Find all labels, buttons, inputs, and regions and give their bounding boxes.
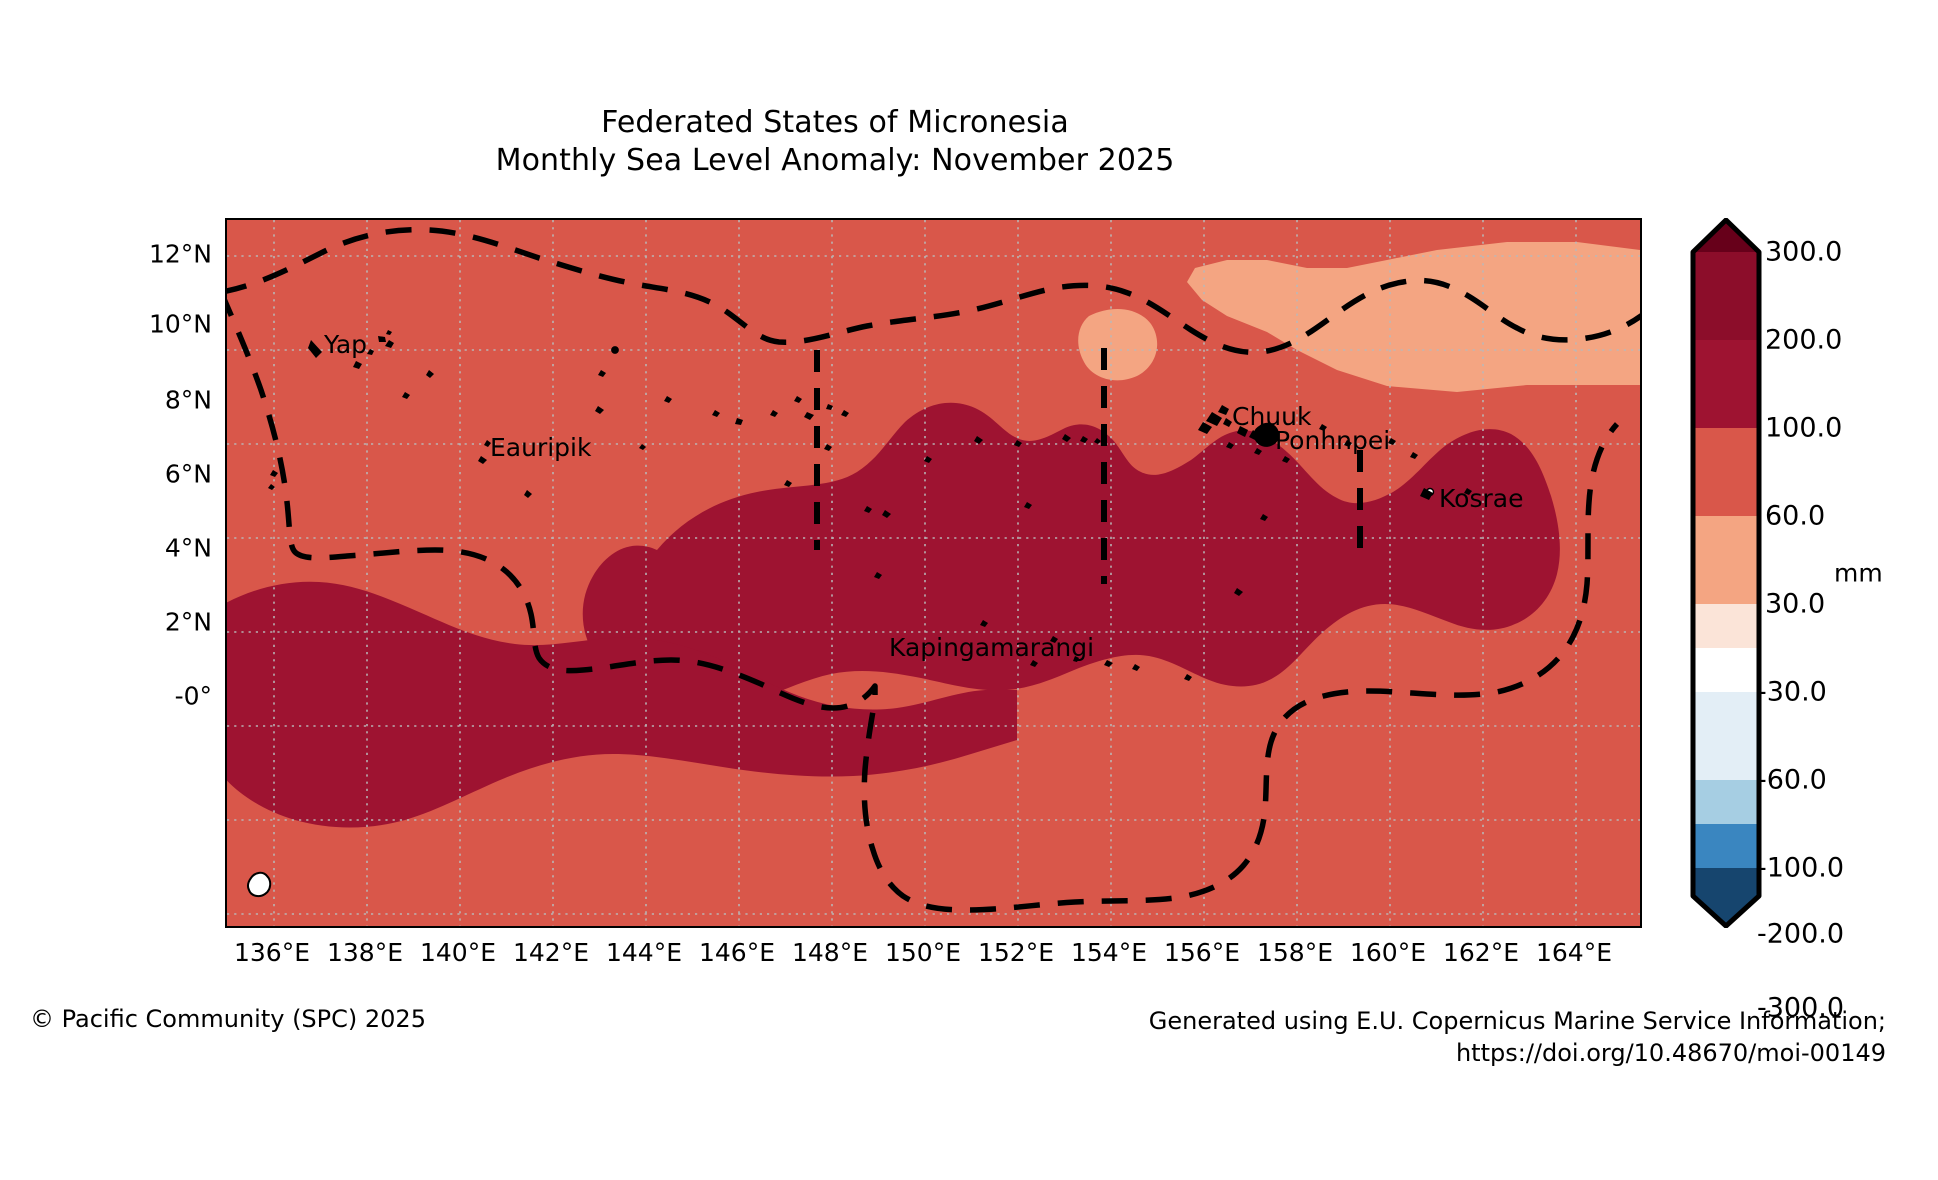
xtick-12: 160°E bbox=[1350, 938, 1426, 967]
xtick-14: 164°E bbox=[1536, 938, 1612, 967]
xtick-11: 158°E bbox=[1257, 938, 1333, 967]
xtick-10: 156°E bbox=[1164, 938, 1240, 967]
cb-band-above-300 bbox=[1693, 220, 1759, 252]
cb-band-m30-0 bbox=[1693, 648, 1759, 692]
xtick-0: 136°E bbox=[234, 938, 310, 967]
cb-band-m200-m100 bbox=[1693, 824, 1759, 868]
xtick-6: 148°E bbox=[792, 938, 868, 967]
cb-label-100: 100.0 bbox=[1765, 413, 1842, 444]
colorbar[interactable]: 300.0 200.0 100.0 60.0 30.0 -30.0 -60.0 … bbox=[1683, 218, 1933, 928]
xtick-1: 138°E bbox=[327, 938, 403, 967]
cb-band-30-60 bbox=[1693, 516, 1759, 604]
footer-attribution-line-1: Generated using E.U. Copernicus Marine S… bbox=[1149, 1005, 1886, 1037]
xtick-5: 146°E bbox=[699, 938, 775, 967]
longitude-axis: 136°E 138°E 140°E 142°E 144°E 146°E 148°… bbox=[0, 0, 1938, 1180]
cb-band-m300-m200 bbox=[1693, 868, 1759, 896]
cb-label-60: 60.0 bbox=[1765, 501, 1825, 532]
footer-attribution: Generated using E.U. Copernicus Marine S… bbox=[1149, 1005, 1886, 1069]
cb-label-200: 200.0 bbox=[1765, 325, 1842, 356]
xtick-2: 140°E bbox=[420, 938, 496, 967]
xtick-3: 142°E bbox=[513, 938, 589, 967]
cb-label-m200: -200.0 bbox=[1757, 919, 1844, 950]
footer-copyright: © Pacific Community (SPC) 2025 bbox=[30, 1005, 426, 1033]
cb-band-0-30 bbox=[1693, 604, 1759, 648]
xtick-8: 152°E bbox=[978, 938, 1054, 967]
footer-attribution-line-2: https://doi.org/10.48670/moi-00149 bbox=[1149, 1037, 1886, 1069]
cb-label-m100: -100.0 bbox=[1757, 853, 1844, 884]
xtick-4: 144°E bbox=[606, 938, 682, 967]
xtick-13: 162°E bbox=[1443, 938, 1519, 967]
colorbar-bands bbox=[1693, 220, 1759, 926]
cb-band-100-200 bbox=[1693, 340, 1759, 428]
cb-label-30: 30.0 bbox=[1765, 589, 1825, 620]
xtick-9: 154°E bbox=[1071, 938, 1147, 967]
cb-band-m60-m30 bbox=[1693, 692, 1759, 780]
cb-band-m100-m60 bbox=[1693, 780, 1759, 824]
cb-label-300: 300.0 bbox=[1765, 237, 1842, 268]
cb-label-m60: -60.0 bbox=[1757, 765, 1827, 796]
cb-label-m30: -30.0 bbox=[1757, 677, 1827, 708]
colorbar-unit-label: mm bbox=[1834, 559, 1883, 588]
cb-band-60-100 bbox=[1693, 428, 1759, 516]
xtick-7: 150°E bbox=[885, 938, 961, 967]
cb-band-200-300 bbox=[1693, 252, 1759, 340]
cb-band-below-m300 bbox=[1693, 896, 1759, 926]
